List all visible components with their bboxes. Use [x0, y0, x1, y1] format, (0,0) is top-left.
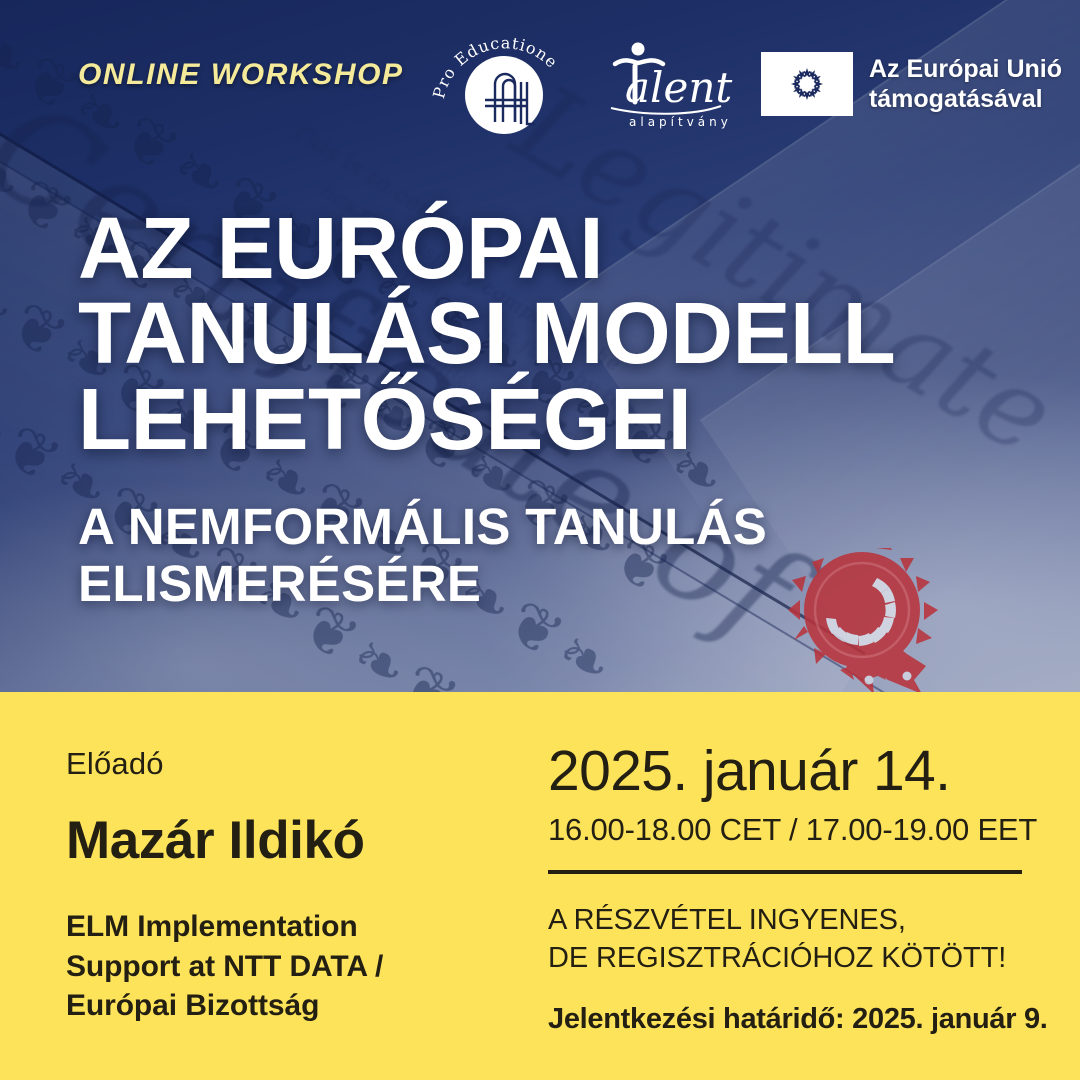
title-line-3: LEHETŐSÉGEI	[78, 377, 1038, 462]
poster: ❦❧❦❧❦❧❦❧❦❧❦❧❦❧❦❧❦❧❦❧ ❧❦❧❦❧❦❧❦❧❦❧❦❧❦❧❦❧❦❧…	[0, 0, 1080, 1080]
registration-deadline: Jelentkezési határidő: 2025. január 9.	[548, 1003, 1028, 1036]
hero-section: ❦❧❦❧❦❧❦❧❦❧❦❧❦❧❦❧❦❧❦❧ ❧❦❧❦❧❦❧❦❧❦❧❦❧❦❧❦❧❦❧…	[0, 0, 1080, 692]
pro-educatione-monogram	[429, 28, 569, 140]
details-section: Előadó Mazár Ildikó ELM Implementation S…	[0, 692, 1080, 1080]
eu-funding-line1: Az Európai Unió	[869, 54, 1062, 84]
subtitle-line-2: ELISMERÉSÉRE	[78, 555, 1038, 612]
speaker-role-line-2: Support at NTT DATA /	[66, 947, 486, 987]
title-line-2: TANULÁSI MODELL	[78, 291, 1038, 376]
partner-logos: Pro Educatione	[429, 28, 1062, 140]
speaker-block: Előadó Mazár Ildikó ELM Implementation S…	[66, 746, 486, 1026]
page-title: AZ EURÓPAI TANULÁSI MODELL LEHETŐSÉGEI	[78, 206, 1038, 462]
registration-note: A RÉSZVÉTEL INGYENES, DE REGISZTRÁCIÓHOZ…	[548, 902, 1028, 977]
registration-note-line-2: DE REGISZTRÁCIÓHOZ KÖTÖTT!	[548, 940, 1028, 978]
pro-educatione-logo: Pro Educatione	[429, 28, 569, 140]
speaker-role: ELM Implementation Support at NTT DATA /…	[66, 907, 486, 1026]
event-info-block: 2025. január 14. 16.00-18.00 CET / 17.00…	[548, 738, 1028, 1036]
svg-text:alapítvány: alapítvány	[629, 115, 732, 129]
svg-text:alentum: alentum	[625, 63, 735, 112]
speaker-name: Mazár Ildikó	[66, 810, 486, 871]
online-workshop-label: ONLINE WORKSHOP	[78, 58, 404, 92]
divider	[548, 870, 1022, 874]
talentum-logo: alentum alapítvány	[595, 36, 735, 132]
event-date: 2025. január 14.	[548, 738, 1028, 804]
speaker-label: Előadó	[66, 746, 486, 782]
eu-funding-text: Az Európai Unió támogatásával	[869, 54, 1062, 114]
eu-funding-line2: támogatásával	[869, 84, 1062, 114]
event-time: 16.00-18.00 CET / 17.00-19.00 EET	[548, 812, 1028, 848]
speaker-role-line-3: Európai Bizottság	[66, 986, 486, 1026]
speaker-role-line-1: ELM Implementation	[66, 907, 486, 947]
title-line-1: AZ EURÓPAI	[78, 206, 1038, 291]
page-subtitle: A NEMFORMÁLIS TANULÁS ELISMERÉSÉRE	[78, 498, 1038, 612]
subtitle-line-1: A NEMFORMÁLIS TANULÁS	[78, 498, 1038, 555]
eu-flag-icon	[761, 52, 853, 116]
eu-funding-logo: Az Európai Unió támogatásával	[761, 52, 1062, 116]
registration-note-line-1: A RÉSZVÉTEL INGYENES,	[548, 902, 1028, 940]
talentum-figure-head	[631, 43, 644, 56]
